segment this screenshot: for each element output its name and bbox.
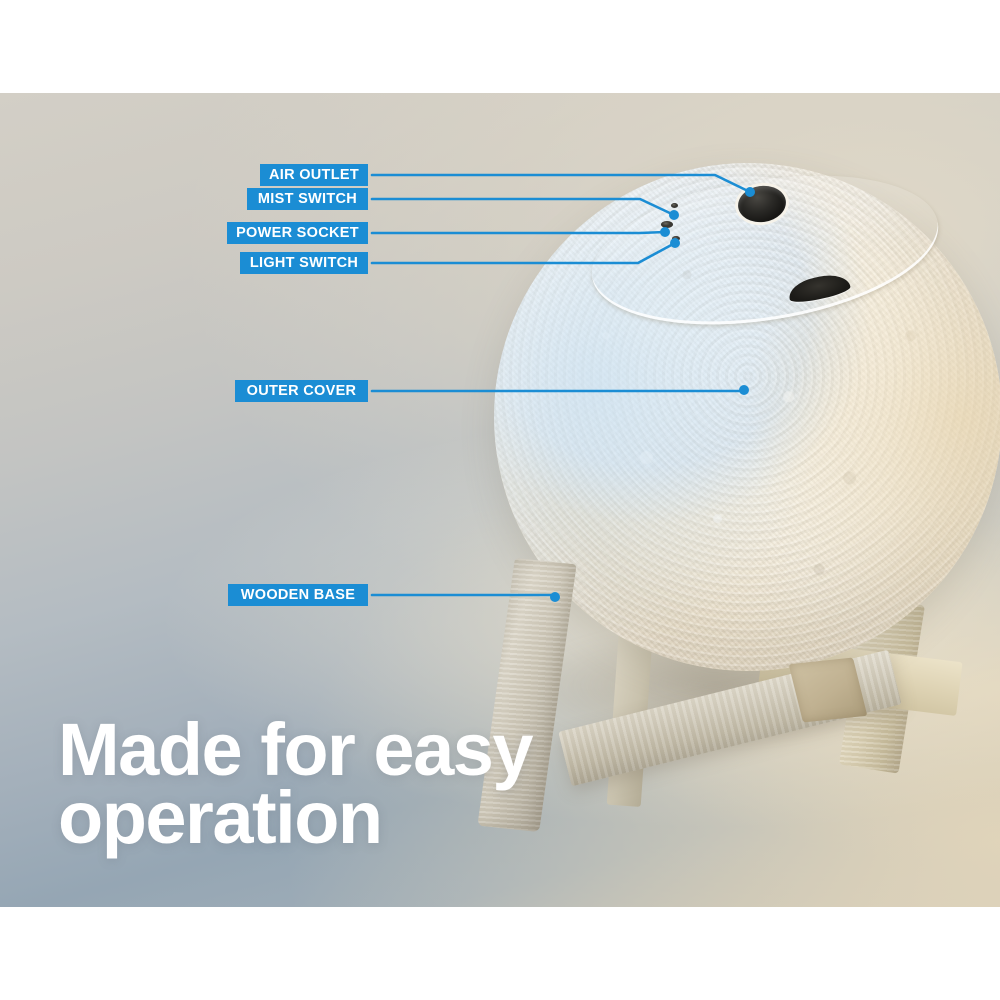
leader-dot-outer-cover — [739, 385, 749, 395]
leader-dot-light-switch — [670, 238, 680, 248]
callout-label-mist-switch: MIST SWITCH — [247, 188, 368, 210]
leader-line-mist-switch — [372, 199, 674, 215]
callout-label-power-socket: POWER SOCKET — [227, 222, 368, 244]
top-white-band — [0, 0, 1000, 93]
leader-line-light-switch — [372, 243, 675, 263]
leader-dot-wooden-base — [550, 592, 560, 602]
leader-dot-mist-switch — [669, 210, 679, 220]
headline: Made for easy operation — [58, 716, 532, 852]
callout-label-air-outlet: AIR OUTLET — [260, 164, 368, 186]
bottom-white-band — [0, 907, 1000, 1000]
callout-label-light-switch: LIGHT SWITCH — [240, 252, 368, 274]
product-infographic: AIR OUTLETMIST SWITCHPOWER SOCKETLIGHT S… — [0, 0, 1000, 1000]
leader-line-outer-cover — [372, 390, 744, 391]
leader-line-power-socket — [372, 232, 665, 233]
leader-line-wooden-base — [372, 595, 555, 597]
callout-label-wooden-base: WOODEN BASE — [228, 584, 368, 606]
leader-dot-power-socket — [660, 227, 670, 237]
headline-line-2: operation — [58, 784, 532, 852]
leader-line-air-outlet — [372, 175, 750, 192]
leader-dot-air-outlet — [745, 187, 755, 197]
callout-label-outer-cover: OUTER COVER — [235, 380, 368, 402]
